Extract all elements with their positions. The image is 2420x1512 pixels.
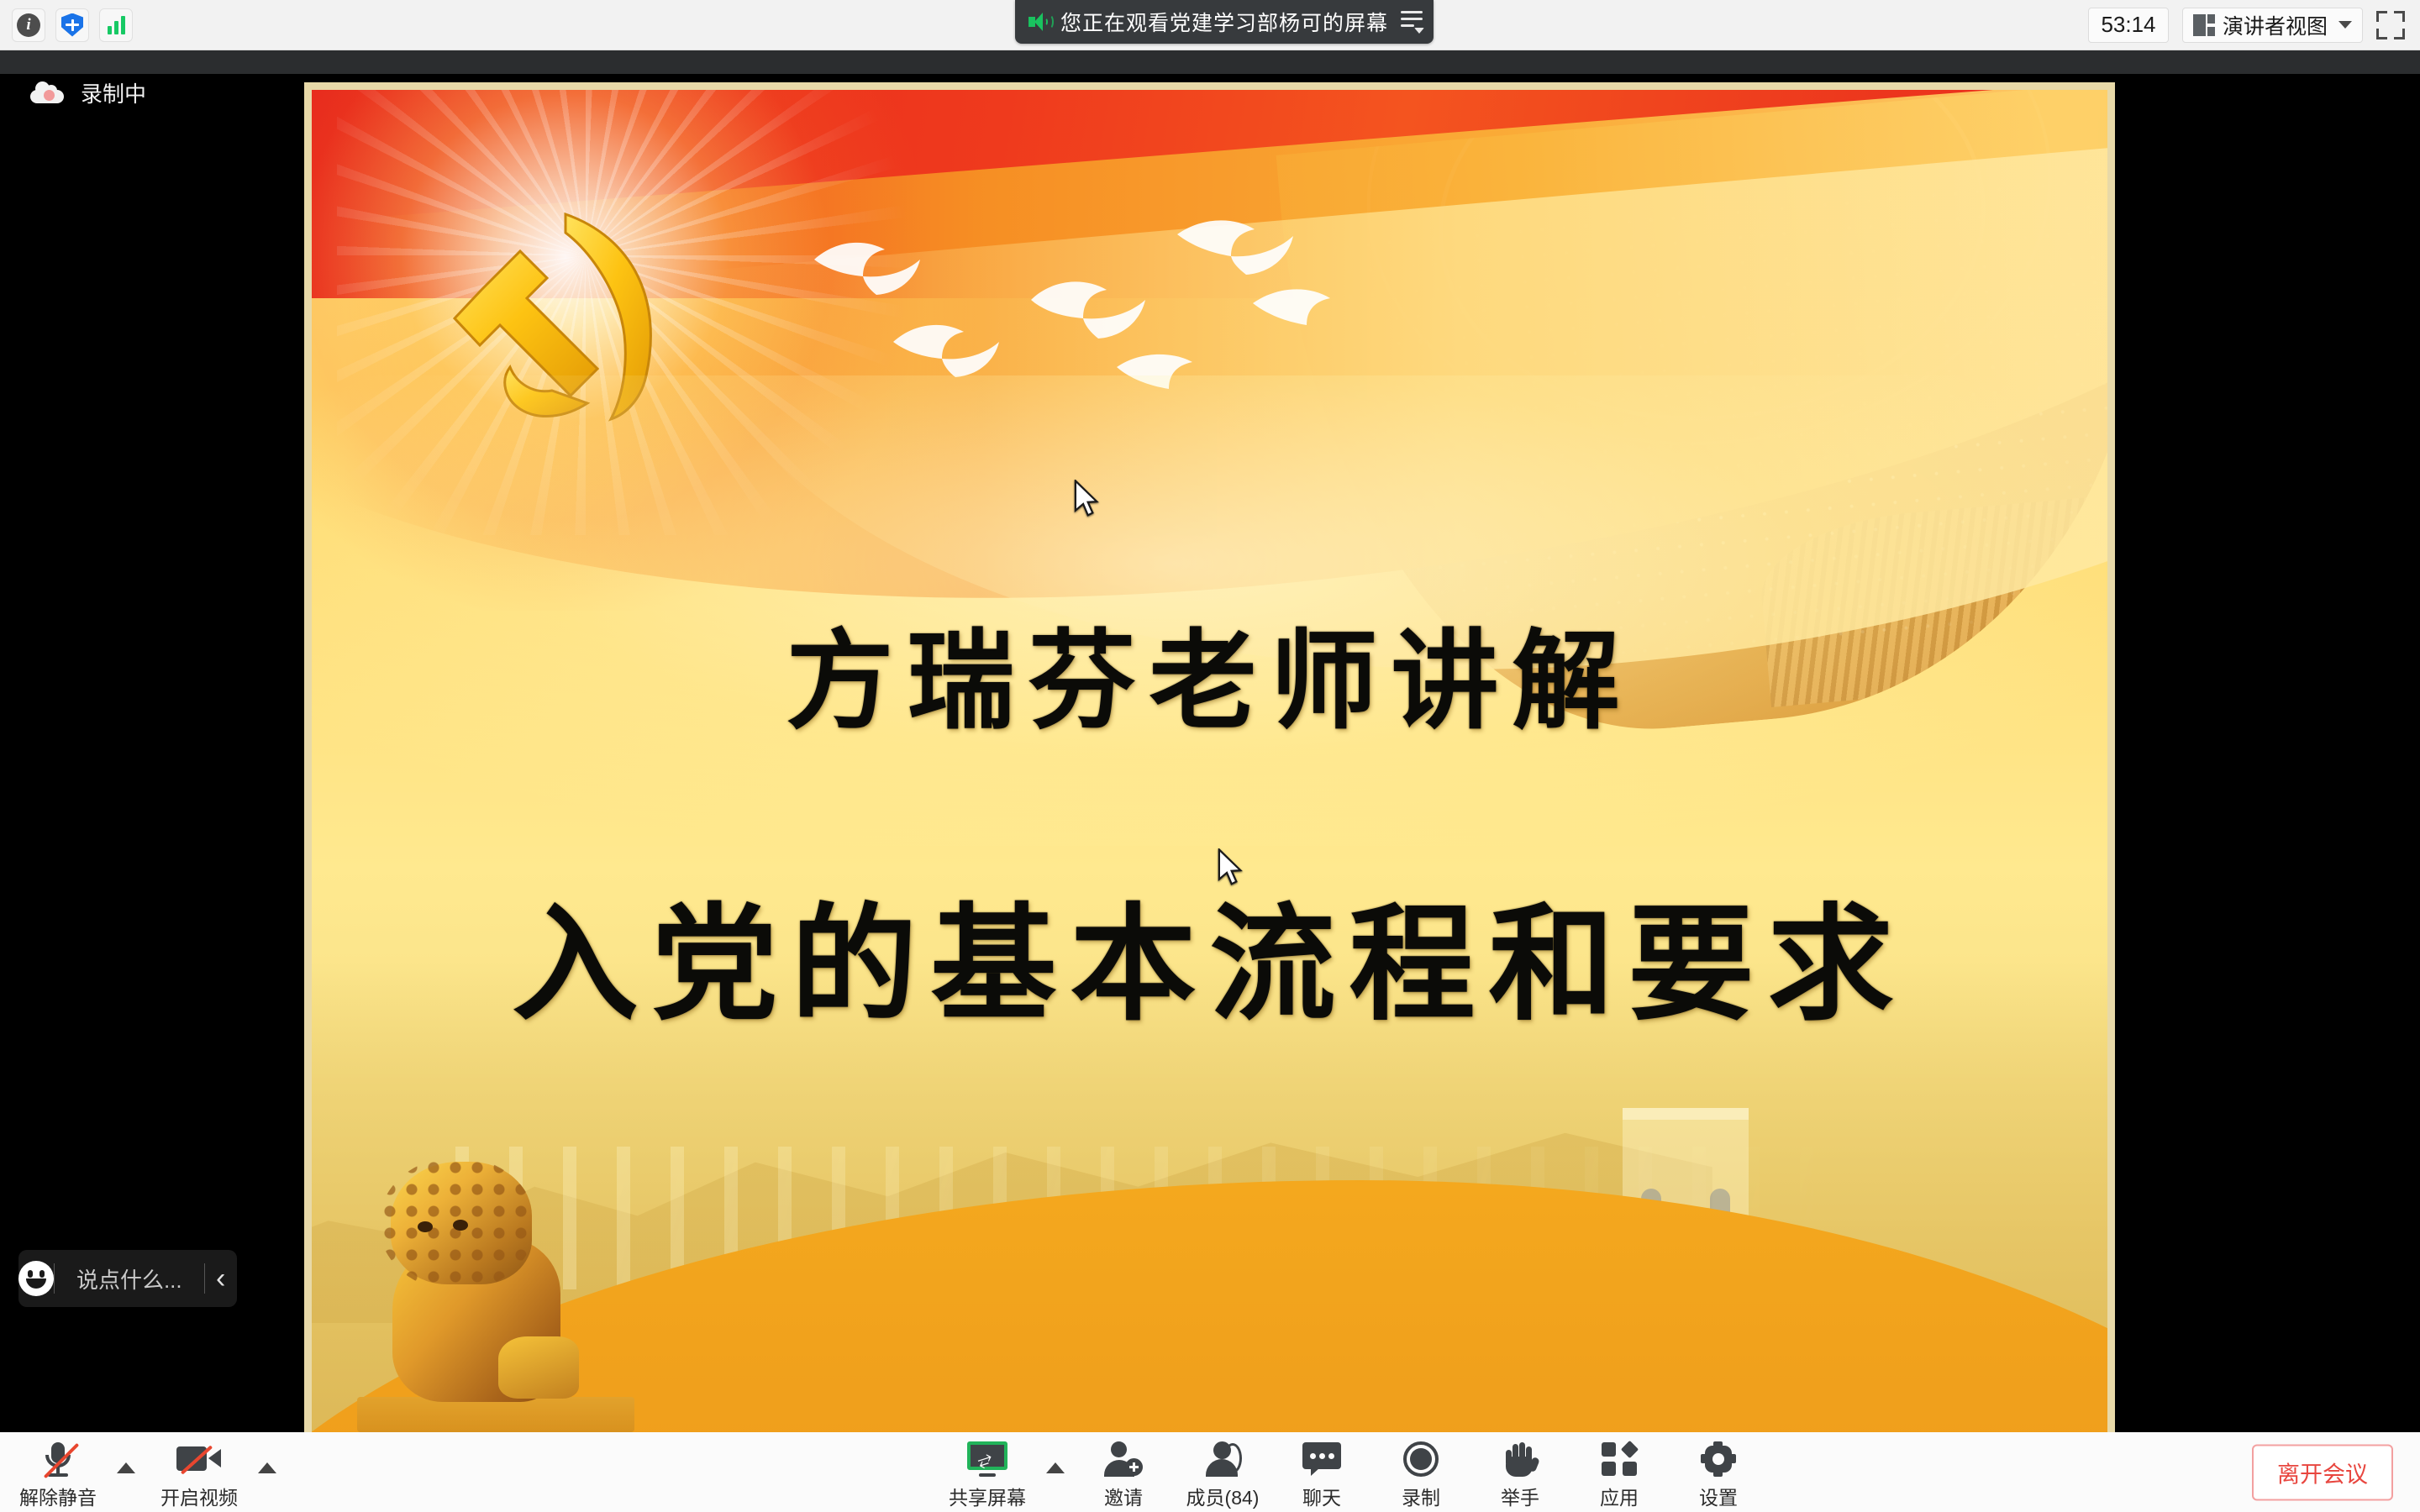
apps-button[interactable]: 应用 [1570, 1435, 1669, 1510]
info-icon[interactable]: i [12, 8, 45, 42]
chat-button[interactable]: 聊天 [1272, 1435, 1371, 1510]
chevron-down-icon [2338, 21, 2352, 29]
view-mode-label: 演讲者视图 [2223, 10, 2328, 40]
video-options-caret[interactable] [249, 1435, 286, 1495]
chat-button-label: 聊天 [1302, 1482, 1341, 1510]
invite-button[interactable]: 邀请 [1074, 1435, 1173, 1510]
settings-gear-icon [1701, 1440, 1736, 1478]
system-bar-right-controls: 53:14 演讲者视图 [2088, 8, 2420, 43]
meeting-window: i 53:14 演讲者视图 [0, 0, 2420, 1512]
presentation-slide: 方瑞芬老师讲解 入党的基本流程和要求 [312, 90, 2107, 1432]
chat-input[interactable]: 说点什么... [55, 1263, 204, 1294]
screen-share-banner-text: 您正在观看党建学习部杨可的屏幕 [1060, 7, 1388, 37]
share-screen-icon: ⥂ [966, 1440, 1008, 1478]
layout-icon [2193, 14, 2215, 36]
shield-plus-icon[interactable] [55, 8, 89, 42]
raise-hand-button[interactable]: 举手 [1470, 1435, 1570, 1510]
record-icon [1403, 1440, 1439, 1478]
system-bar-left-icons: i [0, 8, 133, 42]
invite-button-label: 邀请 [1104, 1482, 1143, 1510]
slide-title-line-1: 方瑞芬老师讲解 [312, 594, 2107, 749]
raise-hand-icon [1502, 1440, 1538, 1478]
cloud-recording-icon [30, 81, 64, 103]
raise-hand-button-label: 举手 [1501, 1482, 1539, 1510]
screen-share-banner[interactable]: 您正在观看党建学习部杨可的屏幕 [1015, 0, 1434, 44]
chevron-up-icon [258, 1462, 276, 1473]
record-button-label: 录制 [1402, 1482, 1440, 1510]
settings-button-label: 设置 [1699, 1482, 1738, 1510]
emoji-picker-button[interactable] [18, 1261, 54, 1296]
meeting-toolbar: 解除静音 开启视频 ⥂ 共享 [0, 1432, 2420, 1512]
share-screen-button[interactable]: ⥂ 共享屏幕 [938, 1435, 1037, 1510]
microphone-muted-icon [39, 1440, 76, 1478]
signal-bars-icon-glyph [108, 16, 125, 34]
view-mode-selector[interactable]: 演讲者视图 [2182, 8, 2363, 43]
recording-label: 录制中 [81, 77, 146, 108]
audio-options-caret[interactable] [108, 1435, 145, 1495]
secondary-dark-strip [0, 50, 2420, 74]
unmute-button[interactable]: 解除静音 [8, 1435, 108, 1510]
smiley-face-icon [18, 1261, 54, 1296]
hamburger-menu-icon[interactable] [1398, 8, 1427, 36]
chevron-left-icon[interactable]: ‹ [204, 1264, 237, 1293]
record-button[interactable]: 录制 [1371, 1435, 1470, 1510]
shared-screen-stage[interactable]: 方瑞芬老师讲解 入党的基本流程和要求 [304, 82, 2115, 1432]
info-icon-glyph: i [17, 13, 40, 37]
speaker-icon [1028, 13, 1050, 31]
toolbar-left-group: 解除静音 开启视频 [0, 1435, 286, 1510]
video-off-icon [176, 1440, 222, 1478]
chevron-up-icon [117, 1462, 135, 1473]
exit-fullscreen-icon[interactable] [2376, 11, 2405, 39]
settings-button[interactable]: 设置 [1669, 1435, 1768, 1510]
slide-title-line-2: 入党的基本流程和要求 [312, 863, 2107, 1045]
chevron-up-icon [1046, 1462, 1065, 1473]
stone-lion-statue [372, 1155, 633, 1432]
apps-grid-icon [1602, 1440, 1637, 1478]
chat-quick-bar[interactable]: 说点什么... ‹ [18, 1250, 237, 1307]
shield-plus-icon-glyph [61, 13, 83, 37]
share-screen-button-label: 共享屏幕 [949, 1482, 1026, 1510]
recording-indicator: 录制中 [30, 72, 146, 113]
meeting-timer: 53:14 [2088, 8, 2169, 43]
share-options-caret[interactable] [1037, 1435, 1074, 1495]
participants-button[interactable]: 成员(84) [1173, 1435, 1272, 1510]
invite-person-icon [1104, 1440, 1143, 1478]
participants-button-label: 成员(84) [1186, 1482, 1260, 1510]
unmute-button-label: 解除静音 [19, 1482, 97, 1510]
start-video-button-label: 开启视频 [160, 1482, 238, 1510]
chat-bubble-icon [1302, 1440, 1341, 1478]
participants-icon [1204, 1440, 1241, 1478]
apps-button-label: 应用 [1600, 1482, 1639, 1510]
toolbar-center-group: ⥂ 共享屏幕 邀请 成员(84) [938, 1435, 1768, 1510]
leave-meeting-button[interactable]: 离开会议 [2252, 1444, 2393, 1500]
signal-bars-icon[interactable] [99, 8, 133, 42]
start-video-button[interactable]: 开启视频 [150, 1435, 249, 1510]
